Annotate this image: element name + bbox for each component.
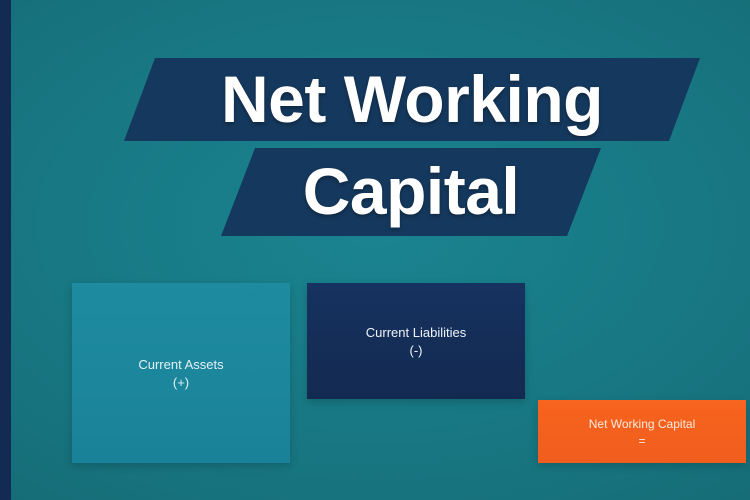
current-liabilities-box: Current Liabilities (-) (307, 283, 525, 399)
current-assets-sign: (+) (173, 375, 189, 391)
net-working-capital-box: Net Working Capital = (538, 400, 746, 463)
title-banner-line-1: Net Working (124, 58, 700, 141)
current-liabilities-sign: (-) (410, 343, 423, 359)
page-title-line-2: Capital (303, 158, 520, 224)
current-liabilities-label: Current Liabilities (366, 323, 466, 343)
net-working-capital-sign: = (638, 434, 645, 448)
current-assets-box: Current Assets (+) (72, 283, 290, 463)
net-working-capital-label: Net Working Capital (589, 415, 696, 434)
title-banner-line-2: Capital (221, 148, 601, 236)
page-title-line-1: Net Working (221, 66, 603, 132)
slide-canvas: Net Working Capital Current Assets (+) C… (0, 0, 750, 500)
left-edge-strip (0, 0, 11, 500)
current-assets-label: Current Assets (138, 355, 223, 375)
